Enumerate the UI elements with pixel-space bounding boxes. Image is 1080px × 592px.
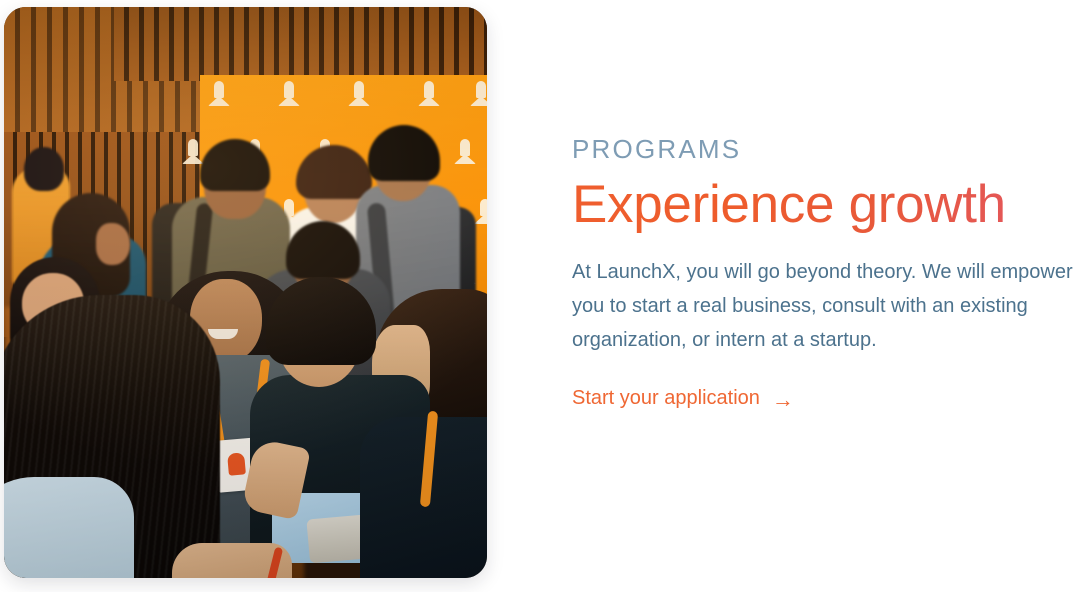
start-application-label: Start your application [572,387,760,410]
photo-stage [4,7,487,578]
programs-text-column: PROGRAMS Experience growth At LaunchX, y… [572,136,1080,410]
start-application-link[interactable]: Start your application → [572,387,794,410]
programs-section: PROGRAMS Experience growth At LaunchX, y… [0,0,1080,592]
section-description: At LaunchX, you will go beyond theory. W… [572,255,1077,357]
rocket-icon [454,139,476,169]
foreground-person [4,477,134,578]
page-title: Experience growth [572,176,1080,233]
background-person-head [24,147,64,191]
programs-photo [4,7,487,578]
rocket-icon [470,81,487,111]
rocket-icon [208,81,230,111]
rocket-icon [348,81,370,111]
arrow-right-icon: → [772,389,794,411]
rocket-icon [418,81,440,111]
wood-ceiling-strip [114,7,487,81]
rocket-icon [278,81,300,111]
section-eyebrow: PROGRAMS [572,136,1080,162]
badge-logo-icon [227,452,246,475]
background-person-face [96,223,130,265]
